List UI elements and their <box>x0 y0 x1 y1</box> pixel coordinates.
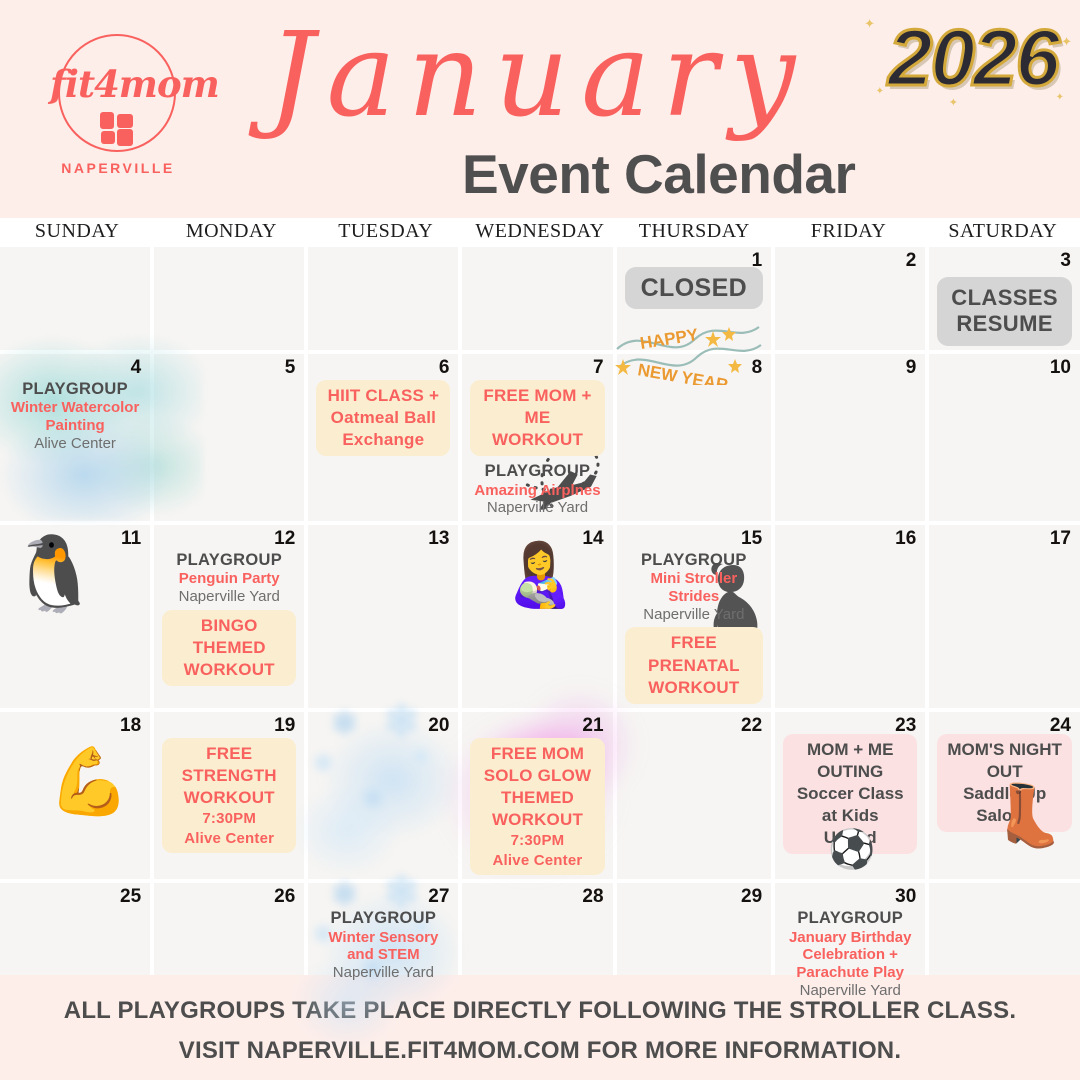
sparkle-icon: ✦ <box>1061 34 1072 50</box>
calendar-day-cell-13[interactable]: 13 <box>308 525 458 708</box>
sparkle-icon: ✦ <box>876 86 884 97</box>
day-number: 13 <box>428 528 449 550</box>
day-number: 18 <box>120 715 141 737</box>
calendar-day-cell-24[interactable]: 24MOM'S NIGHT OUTSaddle Up Saloon👢 <box>929 712 1080 879</box>
sparkle-icon: ✦ <box>949 96 958 109</box>
day-number: 19 <box>274 715 295 737</box>
event-location: Naperville Yard <box>162 588 296 606</box>
event-highlight-text: BINGO THEMED WORKOUT <box>162 610 296 686</box>
event-highlight-text: HIIT CLASS + Oatmeal Ball Exchange <box>316 380 450 456</box>
page-title: Event Calendar <box>462 142 855 206</box>
sparkle-icon: ✦ <box>1056 92 1064 103</box>
event-pink-badge: MOM'S NIGHT OUTSaddle Up Saloon <box>937 734 1072 832</box>
logo-city-label: NAPERVILLE <box>38 160 198 176</box>
event-pink-title: MOM + ME OUTINGSoccer Class at Kids Unit… <box>783 734 917 854</box>
calendar-day-cell-4[interactable]: 4PLAYGROUPWinter Watercolor PaintingAliv… <box>0 354 150 521</box>
weekday-header-row: SUNDAY MONDAY TUESDAY WEDNESDAY THURSDAY… <box>0 218 1080 247</box>
event-highlight-badge: FREE PRENATAL WORKOUT <box>625 627 764 703</box>
day-number: 24 <box>1050 715 1071 737</box>
calendar-day-cell-22[interactable]: 22 <box>617 712 772 879</box>
day-number: 14 <box>582 528 603 550</box>
day-content: FREE MOM SOLO GLOW THEMED WORKOUT7:30PMA… <box>470 738 604 875</box>
event-location: Naperville Yard <box>316 964 450 982</box>
logo-wordmark: fit4mom <box>50 66 186 103</box>
event-location: Naperville Yard <box>625 606 764 624</box>
event-location: Alive Center <box>8 435 142 453</box>
day-number: 21 <box>582 715 603 737</box>
calendar-day-cell-2[interactable]: 2 <box>775 247 925 350</box>
event-time: 7:30PM <box>172 809 286 829</box>
weekday-wednesday: WEDNESDAY <box>463 218 617 247</box>
year-label: 2026 <box>888 18 1058 98</box>
day-number: 3 <box>1060 250 1071 272</box>
calendar-grid: HAPPY NEW YEAR 1CLOSED23CLASSES RESUME4P… <box>0 247 1080 975</box>
day-number: 30 <box>895 886 916 908</box>
day-number: 22 <box>741 715 762 737</box>
playgroup-label: PLAYGROUP <box>625 551 764 570</box>
weekday-friday: FRIDAY <box>771 218 925 247</box>
day-number: 25 <box>120 886 141 908</box>
weekday-monday: MONDAY <box>154 218 308 247</box>
calendar-day-cell-9[interactable]: 9 <box>775 354 925 521</box>
day-content: PLAYGROUPPenguin PartyNaperville YardBIN… <box>162 551 296 686</box>
calendar-day-cell-1[interactable]: HAPPY NEW YEAR 1CLOSED <box>617 247 772 350</box>
event-location: Naperville Yard <box>470 499 604 517</box>
calendar-day-cell-empty[interactable] <box>154 247 304 350</box>
calendar-day-cell-empty[interactable] <box>462 247 612 350</box>
event-location: Naperville Yard <box>783 982 917 1000</box>
day-content: PLAYGROUPMini Stroller StridesNaperville… <box>625 551 764 704</box>
event-highlight-text: FREE PRENATAL WORKOUT <box>625 627 764 703</box>
fit4mom-logo[interactable]: fit4mom NAPERVILLE <box>38 22 188 187</box>
day-number: 2 <box>906 250 917 272</box>
mom-with-stroller-icon: 👩‍🍼 <box>502 545 582 665</box>
status-badge: CLASSES RESUME <box>937 277 1072 346</box>
sparkle-icon: ✦ <box>864 16 875 32</box>
day-number: 1 <box>752 250 763 272</box>
calendar-day-cell-empty[interactable] <box>308 247 458 350</box>
calendar-day-cell-16[interactable]: 16 <box>775 525 925 708</box>
month-title: January <box>268 12 807 140</box>
event-highlight-badge: FREE MOM SOLO GLOW THEMED WORKOUT7:30PMA… <box>470 738 604 875</box>
day-content: MOM'S NIGHT OUTSaddle Up Saloon <box>937 734 1072 832</box>
event-title: Winter Watercolor Painting <box>8 399 142 434</box>
playgroup-label: PLAYGROUP <box>8 380 142 399</box>
playgroup-label: PLAYGROUP <box>316 909 450 928</box>
event-highlight-text: FREE MOM + ME WORKOUT <box>470 380 604 456</box>
day-content: PLAYGROUPWinter Watercolor PaintingAlive… <box>8 380 142 453</box>
day-number: 10 <box>1050 357 1071 379</box>
day-content: PLAYGROUPJanuary Birthday Celebration + … <box>783 909 917 999</box>
event-title: Winter Sensory and STEM <box>316 929 450 964</box>
day-number: 15 <box>741 528 762 550</box>
flexed-bicep-icon: 💪 <box>48 748 148 848</box>
day-number: 28 <box>582 886 603 908</box>
day-content: FREE MOM + ME WORKOUTPLAYGROUPAmazing Ai… <box>470 380 604 517</box>
calendar-day-cell-17[interactable]: 17 <box>929 525 1080 708</box>
weekday-saturday: SATURDAY <box>926 218 1080 247</box>
day-number: 8 <box>752 357 763 379</box>
calendar-day-cell-11[interactable]: 🐧11 <box>0 525 150 708</box>
day-number: 29 <box>741 886 762 908</box>
footer-line-1: ALL PLAYGROUPS TAKE PLACE DIRECTLY FOLLO… <box>0 997 1080 1025</box>
calendar-day-cell-8[interactable]: 8 <box>617 354 772 521</box>
event-pink-badge: MOM + ME OUTINGSoccer Class at Kids Unit… <box>783 734 917 854</box>
event-pink-subtitle: Soccer Class at Kids United <box>793 783 907 849</box>
event-highlight-text: FREE MOM SOLO GLOW THEMED WORKOUT7:30PMA… <box>470 738 604 875</box>
day-number: 27 <box>428 886 449 908</box>
day-number: 26 <box>274 886 295 908</box>
calendar-footer: ALL PLAYGROUPS TAKE PLACE DIRECTLY FOLLO… <box>0 975 1080 1080</box>
event-title: Penguin Party <box>162 570 296 588</box>
day-content: PLAYGROUPWinter Sensory and STEMNapervil… <box>316 909 450 982</box>
event-title: Mini Stroller Strides <box>625 570 764 605</box>
day-content: FREE STRENGTH WORKOUT7:30PMAlive Center <box>162 738 296 853</box>
day-number: 11 <box>121 528 141 550</box>
playgroup-label: PLAYGROUP <box>162 551 296 570</box>
event-highlight-text: FREE STRENGTH WORKOUT7:30PMAlive Center <box>162 738 296 853</box>
footer-line-2: VISIT NAPERVILLE.FIT4MOM.COM FOR MORE IN… <box>0 1037 1080 1065</box>
calendar-day-cell-21[interactable]: 21FREE MOM SOLO GLOW THEMED WORKOUT7:30P… <box>462 712 612 879</box>
day-content: CLOSED <box>625 267 764 309</box>
penguin-icon: 🐧 <box>8 537 106 649</box>
day-number: 16 <box>895 528 916 550</box>
flower-icon <box>100 112 134 146</box>
playgroup-label: PLAYGROUP <box>470 462 604 481</box>
weekday-thursday: THURSDAY <box>617 218 771 247</box>
event-title: Amazing Airplnes <box>470 482 604 500</box>
event-highlight-badge: BINGO THEMED WORKOUT <box>162 610 296 686</box>
event-time: 7:30PM <box>480 831 594 851</box>
calendar-day-cell-30[interactable]: 30PLAYGROUPJanuary Birthday Celebration … <box>775 883 925 1003</box>
calendar-day-cell-20[interactable]: ❄ ❄ ❄ ❄ ❄ 20 <box>308 712 458 879</box>
day-number: 12 <box>274 528 295 550</box>
day-number: 17 <box>1050 528 1071 550</box>
svg-text:HAPPY: HAPPY <box>638 325 699 353</box>
day-number: 9 <box>906 357 917 379</box>
calendar-day-cell-23[interactable]: 23MOM + ME OUTINGSoccer Class at Kids Un… <box>775 712 925 879</box>
calendar-day-cell-18[interactable]: 💪18 <box>0 712 150 879</box>
calendar-day-cell-19[interactable]: 19FREE STRENGTH WORKOUT7:30PMAlive Cente… <box>154 712 304 879</box>
day-number: 5 <box>285 357 296 379</box>
event-highlight-badge: HIIT CLASS + Oatmeal Ball Exchange <box>316 380 450 456</box>
event-highlight-badge: FREE MOM + ME WORKOUT <box>470 380 604 456</box>
event-location: Alive Center <box>172 829 286 849</box>
day-number: 6 <box>439 357 450 379</box>
calendar-page: fit4mom NAPERVILLE January Event Calenda… <box>0 0 1080 1080</box>
weekday-sunday: SUNDAY <box>0 218 154 247</box>
event-location: Alive Center <box>480 851 594 871</box>
day-number: 20 <box>428 715 449 737</box>
calendar-day-cell-5[interactable]: 5 <box>154 354 304 521</box>
calendar-day-cell-7[interactable]: 7FREE MOM + ME WORKOUTPLAYGROUPAmazing A… <box>462 354 612 521</box>
day-content: MOM + ME OUTINGSoccer Class at Kids Unit… <box>783 734 917 854</box>
event-title: January Birthday Celebration + Parachute… <box>783 929 917 982</box>
event-pink-title: MOM'S NIGHT OUTSaddle Up Saloon <box>937 734 1072 832</box>
calendar-day-cell-14[interactable]: 👩‍🍼14 <box>462 525 612 708</box>
day-number: 7 <box>593 357 604 379</box>
status-badge: CLOSED <box>625 267 764 309</box>
day-number: 23 <box>895 715 916 737</box>
calendar-header: fit4mom NAPERVILLE January Event Calenda… <box>0 0 1080 218</box>
day-number: 4 <box>131 357 142 379</box>
day-content: CLASSES RESUME <box>937 277 1072 346</box>
weekday-tuesday: TUESDAY <box>309 218 463 247</box>
day-content: HIIT CLASS + Oatmeal Ball Exchange <box>316 380 450 456</box>
playgroup-label: PLAYGROUP <box>783 909 917 928</box>
event-pink-subtitle: Saddle Up Saloon <box>947 783 1062 827</box>
calendar-day-cell-15[interactable]: 15PLAYGROUPMini Stroller StridesNapervil… <box>617 525 772 708</box>
event-highlight-badge: FREE STRENGTH WORKOUT7:30PMAlive Center <box>162 738 296 853</box>
calendar-day-cell-empty[interactable] <box>0 247 150 350</box>
calendar-day-cell-3[interactable]: 3CLASSES RESUME <box>929 247 1080 350</box>
calendar-day-cell-12[interactable]: 12PLAYGROUPPenguin PartyNaperville YardB… <box>154 525 304 708</box>
calendar-day-cell-10[interactable]: 10 <box>929 354 1080 521</box>
calendar-day-cell-6[interactable]: 6HIIT CLASS + Oatmeal Ball Exchange <box>308 354 458 521</box>
